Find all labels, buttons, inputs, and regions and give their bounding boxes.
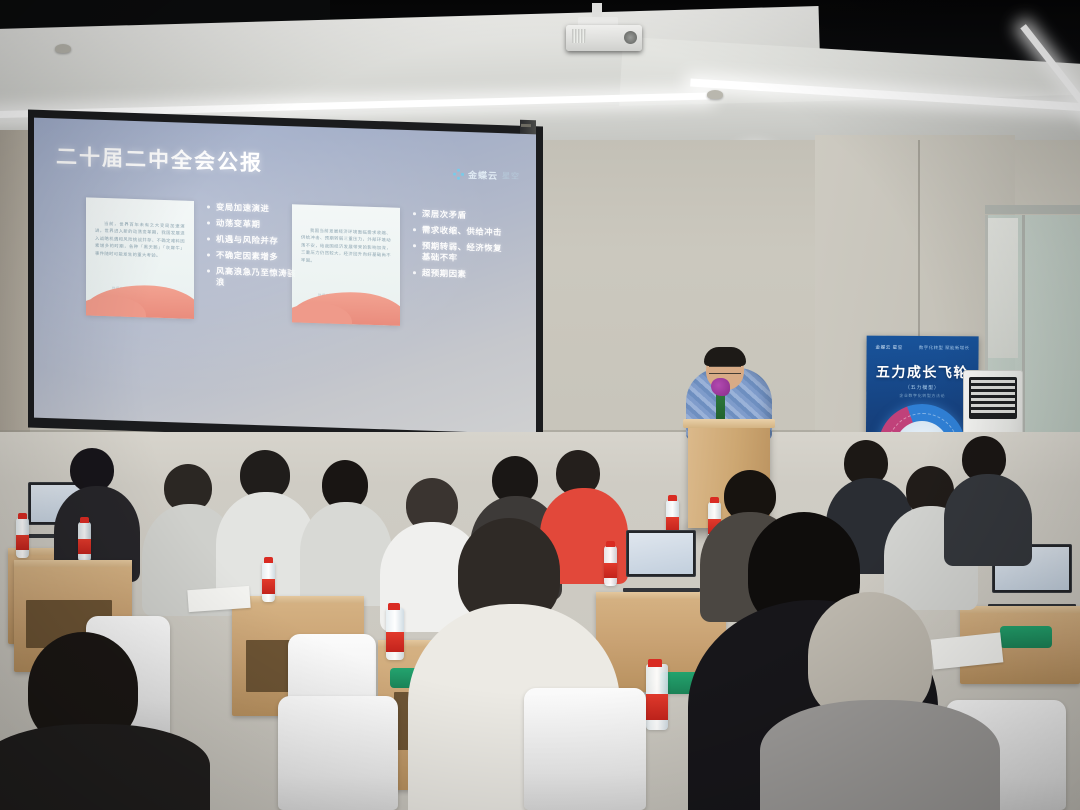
smoke-detector-icon <box>707 90 723 99</box>
smoke-detector-icon <box>55 44 71 53</box>
left-wall-pillar <box>0 130 30 460</box>
bullet-item: 风高浪急乃至惊涛骇浪 <box>206 265 302 290</box>
banner-subtitle: （五力模型） <box>866 384 978 392</box>
presenter-hair <box>704 347 746 366</box>
banner-brand-left: 金蝶云 星空 <box>876 345 903 351</box>
slide-brand-logo: 金蝶云 星空 <box>453 168 520 183</box>
slide-bullets-right: 深层次矛盾 需求收缩、供给冲击 预期转弱、经济恢复基础不牢 超预期因素 <box>412 208 508 286</box>
slide-bullets-middle-list: 变局加速演进 动荡变革期 机遇与风险并存 不确定因素增多 风高浪急乃至惊涛骇浪 <box>206 201 302 290</box>
banner-title: 五力成长飞轮 <box>866 362 978 383</box>
chair[interactable] <box>524 688 646 810</box>
glass-partition-header <box>985 205 1080 214</box>
slide-card-left: 当前，世界百年未有之大变局加速演进，世界进入新的动荡变革期，我国发展进入战略机遇… <box>86 197 194 319</box>
banner-subtitle-2: 企业数字化转型方法论 <box>866 393 978 400</box>
water-bottle[interactable] <box>646 664 668 730</box>
ac-vent-grille <box>969 377 1017 419</box>
podium-top-lip <box>683 419 775 428</box>
bullet-item: 需求收缩、供给冲击 <box>412 224 508 238</box>
bullet-item: 预期转弱、经济恢复基础不牢 <box>412 240 508 265</box>
projector-lens-icon <box>624 31 637 44</box>
green-pouch[interactable] <box>1000 626 1052 648</box>
slide-card-right-paragraph: 我国当前发展经济环境面临需求收缩、供给冲击、预期转弱三重压力，外部环境动荡不安，… <box>301 227 391 267</box>
flower-decoration-icon <box>711 378 730 396</box>
water-bottle[interactable] <box>604 546 617 586</box>
chair[interactable] <box>278 696 398 810</box>
conference-room-photo: 二十届二中全会公报 金蝶云 星空 当前，世界百年未有之大变局加速演进，世界进入新… <box>0 0 1080 810</box>
bullet-item: 超预期因素 <box>412 267 508 281</box>
laptop[interactable] <box>626 530 696 592</box>
slide-bullets-middle: 变局加速演进 动荡变革期 机遇与风险并存 不确定因素增多 风高浪急乃至惊涛骇浪 <box>206 201 302 295</box>
water-bottle[interactable] <box>16 518 29 558</box>
bullet-item: 不确定因素增多 <box>206 249 302 263</box>
bullet-item: 深层次矛盾 <box>412 208 508 222</box>
bullet-item: 变局加速演进 <box>206 201 302 215</box>
banner-brand-row: 金蝶云 星空 数字化转型 赋能新增长 <box>867 345 979 352</box>
water-bottle[interactable] <box>262 562 275 602</box>
slide-card-right-body: 我国当前发展经济环境面临需求收缩、供给冲击、预期转弱三重压力，外部环境动荡不安，… <box>292 204 400 267</box>
slide-card-left-body: 当前，世界百年未有之大变局加速演进，世界进入新的动荡变革期，我国发展进入战略机遇… <box>86 197 194 260</box>
projection-screen: 二十届二中全会公报 金蝶云 星空 当前，世界百年未有之大变局加速演进，世界进入新… <box>34 118 536 435</box>
water-bottle[interactable] <box>386 608 404 660</box>
projector-vent <box>572 29 586 43</box>
audience-body <box>300 502 392 606</box>
foreground-body <box>0 724 210 810</box>
paper-handout[interactable] <box>187 586 250 612</box>
audience-body <box>944 474 1032 566</box>
bullet-item: 动荡变革期 <box>206 217 302 231</box>
slide-bullets-right-list: 深层次矛盾 需求收缩、供给冲击 预期转弱、经济恢复基础不牢 超预期因素 <box>412 208 508 281</box>
water-bottle[interactable] <box>78 522 91 562</box>
foreground-body <box>760 700 1000 810</box>
banner-brand-right: 数字化转型 赋能新增长 <box>919 345 970 351</box>
kingdee-dots-icon <box>453 169 464 180</box>
presenter-glasses-icon <box>709 366 741 374</box>
slide-brand-name: 金蝶云 <box>468 168 498 182</box>
slide-card-right: 我国当前发展经济环境面临需求收缩、供给冲击、预期转弱三重压力，外部环境动荡不安，… <box>292 204 400 326</box>
slide-brand-product: 星空 <box>502 170 520 182</box>
bullet-item: 机遇与风险并存 <box>206 233 302 247</box>
slide-card-left-paragraph: 当前，世界百年未有之大变局加速演进，世界进入新的动荡变革期，我国发展进入战略机遇… <box>95 220 185 260</box>
window-blind <box>988 218 1018 358</box>
